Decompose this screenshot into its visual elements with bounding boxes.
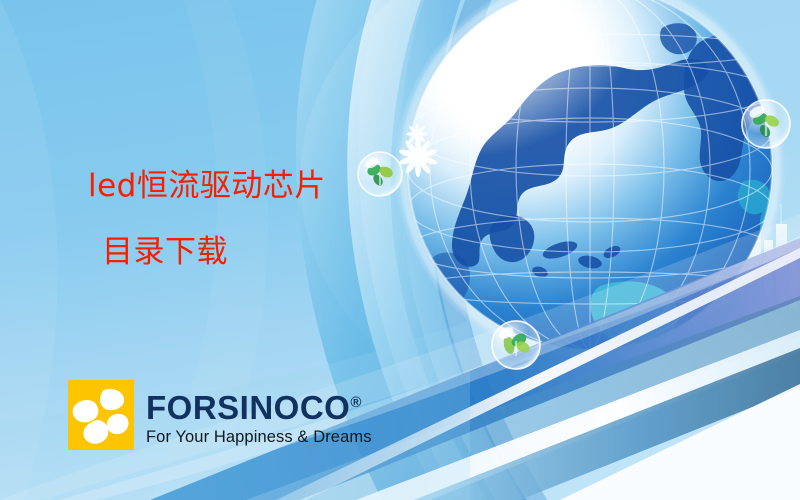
page-title-line-1: led恒流驱动芯片	[88, 168, 326, 204]
forsinoco-pinwheel-icon	[68, 380, 134, 450]
page-title-line-2: 目录下载	[102, 231, 326, 273]
starburst-flower-small	[406, 123, 428, 145]
brand-tagline: For Your Happiness & Dreams	[146, 427, 372, 447]
registered-trademark-icon: ®	[350, 394, 361, 411]
page-title: led恒流驱动芯片 目录下载	[88, 165, 326, 273]
bubble-pinwheel-top-right	[742, 100, 790, 148]
pinwheel-petals-icon	[68, 380, 134, 450]
bubble-sprout-lower-mid	[492, 321, 540, 369]
brand-wordmark-text: FORSINOCO	[146, 389, 350, 426]
brand-logo[interactable]: FORSINOCO® For Your Happiness & Dreams	[68, 380, 372, 450]
brand-wordmark: FORSINOCO®	[146, 386, 372, 425]
bubble-pinwheel-mid-left	[358, 152, 402, 196]
banner-canvas: led恒流驱动芯片 目录下载 FORSINOCO® For Your Happ	[0, 0, 800, 500]
